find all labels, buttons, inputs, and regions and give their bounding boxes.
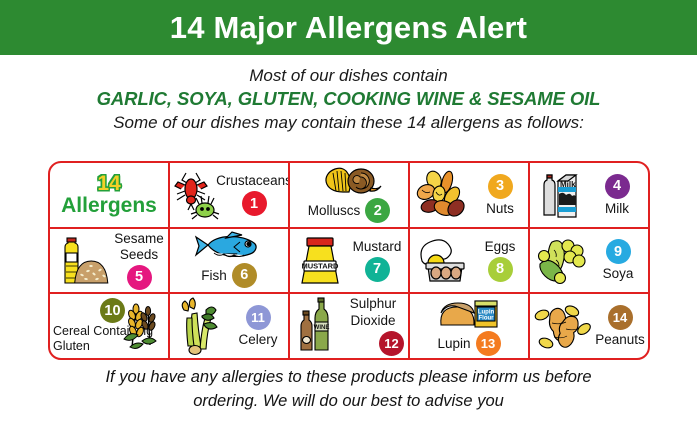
grid-title-number: 14 [97, 173, 120, 195]
celery-stalks-icon [172, 296, 230, 356]
intro-line-1: Most of our dishes contain [0, 65, 697, 87]
allergen-cell-nuts[interactable]: 3 Nuts [410, 163, 530, 227]
allergen-text-block: Sesame Seeds 5 [112, 231, 166, 289]
allergen-grid-row: Cereal Containing Gluten 10 [50, 294, 648, 358]
allergen-label: Soya [603, 266, 634, 281]
wheat-ears-icon [110, 295, 166, 355]
allergen-text-block: 4 Milk [588, 174, 646, 216]
allergen-badge: 3 [488, 174, 513, 199]
svg-text:Flour: Flour [479, 316, 495, 322]
shell-snail-icon [313, 164, 385, 196]
allergen-badge: 14 [608, 305, 633, 330]
allergen-cell-lupin[interactable]: Lupin Flour Lupin 13 [410, 294, 530, 358]
lupin-flour-bread-icon: Lupin Flour [431, 295, 507, 329]
allergen-badge: 4 [605, 174, 630, 199]
page-title: 14 Major Allergens Alert [170, 12, 527, 43]
soya-beans-icon [532, 234, 590, 288]
mustard-jar-icon: MUSTARD [292, 233, 348, 289]
svg-text:Milk: Milk [560, 180, 576, 189]
grid-title-cell: 14 Allergens [50, 163, 170, 227]
allergen-badge: 12 [379, 331, 404, 356]
svg-text:WINE: WINE [314, 325, 330, 331]
allergen-badge: 6 [232, 263, 257, 288]
allergen-cell-sulphur-dioxide[interactable]: WINE Sulphur Dioxide 12 [290, 294, 410, 358]
allergen-text-block: Fish 6 [201, 260, 257, 292]
allergen-grid-wrapper: 14 Allergens [48, 161, 650, 360]
fish-icon [190, 230, 268, 260]
allergen-cell-sesame-seeds[interactable]: Sesame Seeds 5 [50, 229, 170, 293]
allergen-cell-peanuts[interactable]: 14 Peanuts [530, 294, 648, 358]
mixed-nuts-icon [412, 168, 474, 222]
intro-line-3: Some of our dishes may contain these 14 … [0, 112, 697, 135]
milk-bottle-carton-icon: Milk [532, 167, 588, 223]
allergen-badge: 2 [365, 198, 390, 223]
allergen-text-block: Eggs 8 [474, 239, 526, 282]
allergen-grid: 14 Allergens [48, 161, 650, 360]
allergen-text-block: 11 Celery [230, 305, 286, 347]
allergen-label: Crustaceans [216, 173, 290, 188]
allergen-badge: 9 [606, 239, 631, 264]
allergen-poster: 14 Major Allergens Alert Most of our dis… [0, 0, 697, 429]
allergen-label: Molluscs [308, 203, 361, 218]
egg-box-icon [412, 235, 474, 287]
allergen-label: Lupin [437, 336, 470, 351]
allergen-label: Sesame Seeds [112, 231, 166, 261]
allergen-cell-fish[interactable]: Fish 6 [170, 229, 290, 293]
allergen-cell-soya[interactable]: 9 Soya [530, 229, 648, 293]
allergen-text-block: Sulphur Dioxide 12 [340, 296, 406, 355]
allergen-badge: 1 [242, 191, 267, 216]
footer-line-2: ordering. We will do our best to advise … [0, 390, 697, 414]
grid-title-word: Allergens [61, 195, 157, 217]
allergen-text-block: Molluscs 2 [308, 196, 391, 226]
allergen-label: Eggs [485, 239, 516, 254]
allergen-cell-eggs[interactable]: Eggs 8 [410, 229, 530, 293]
allergen-label: Fish [201, 268, 227, 283]
allergen-badge: 7 [365, 257, 390, 282]
wine-bottles-icon: WINE [292, 296, 340, 356]
intro-text-block: Most of our dishes contain GARLIC, SOYA,… [0, 55, 697, 135]
footer-note: If you have any allergies to these produ… [0, 366, 697, 414]
svg-text:MUSTARD: MUSTARD [302, 261, 340, 270]
allergen-cell-mustard[interactable]: MUSTARD Mustard 7 [290, 229, 410, 293]
lobster-crab-icon [172, 167, 222, 223]
allergen-text-block: 3 Nuts [474, 174, 526, 216]
allergen-grid-row: Sesame Seeds 5 [50, 229, 648, 295]
allergen-label: Nuts [486, 201, 514, 216]
allergen-cell-celery[interactable]: 11 Celery [170, 294, 290, 358]
header-band: 14 Major Allergens Alert [0, 0, 697, 55]
allergen-badge: 13 [476, 331, 501, 356]
footer-line-1: If you have any allergies to these produ… [0, 366, 697, 390]
allergen-label: Peanuts [595, 332, 645, 347]
allergen-grid-row: 14 Allergens [50, 163, 648, 229]
allergen-badge: 11 [246, 305, 271, 330]
allergen-cell-milk[interactable]: Milk 4 Milk [530, 163, 648, 227]
allergen-text-block: 14 Peanuts [594, 305, 646, 347]
allergen-cell-crustaceans[interactable]: Crustaceans 1 [170, 163, 290, 227]
allergen-text-block: Mustard 7 [348, 239, 406, 282]
allergen-badge: 8 [488, 257, 513, 282]
allergen-badge: 5 [127, 265, 152, 290]
allergen-label: Mustard [353, 239, 402, 254]
allergen-label: Celery [238, 332, 277, 347]
intro-line-2-highlight: GARLIC, SOYA, GLUTEN, COOKING WINE & SES… [0, 87, 697, 112]
allergen-label: Milk [605, 201, 629, 216]
allergen-text-block: Crustaceans 1 [222, 173, 286, 216]
allergen-label: Sulphur Dioxide [340, 296, 406, 328]
allergen-cell-cereal-gluten[interactable]: Cereal Containing Gluten 10 [50, 294, 170, 358]
peanuts-icon [532, 299, 594, 353]
sesame-oil-bread-icon [52, 233, 112, 289]
allergen-text-block: 9 Soya [590, 239, 646, 281]
allergen-cell-molluscs[interactable]: Molluscs 2 [290, 163, 410, 227]
allergen-text-block: Lupin 13 [437, 329, 500, 357]
